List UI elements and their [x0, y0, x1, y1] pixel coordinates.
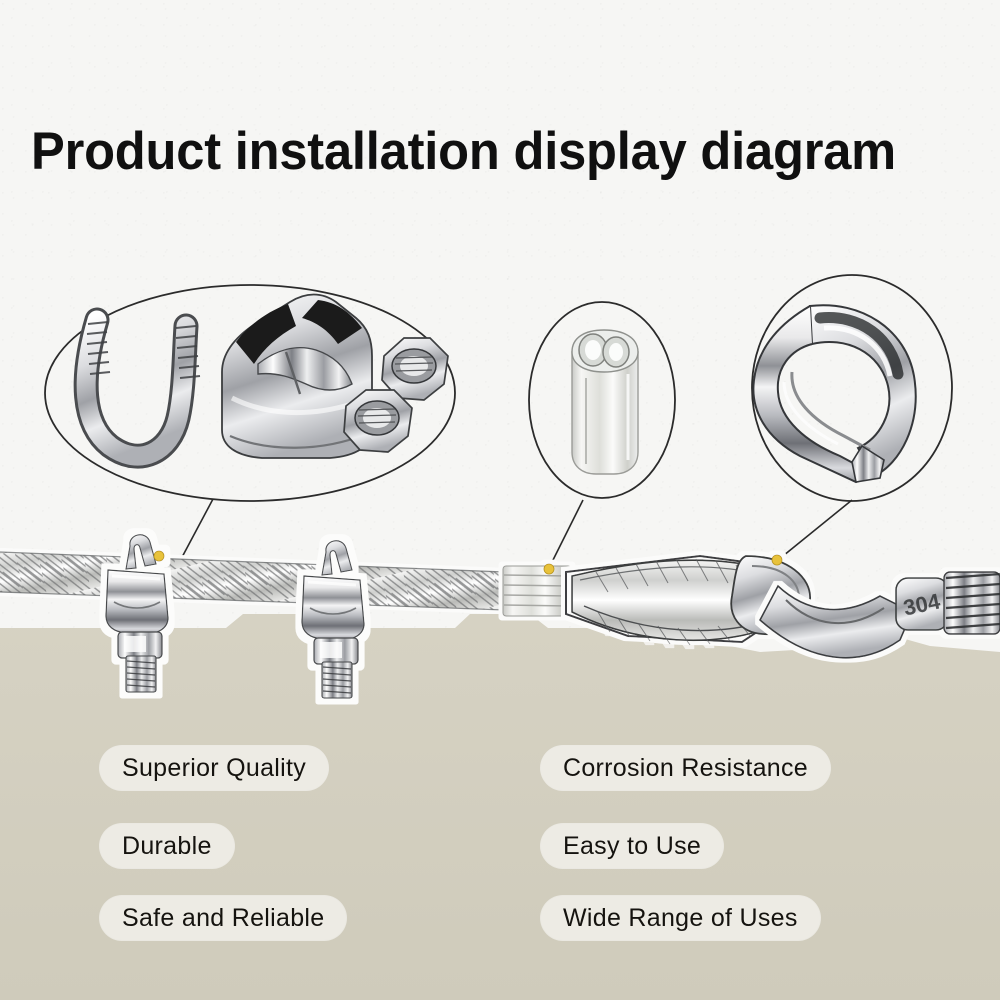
feature-pill-easy-to-use: Easy to Use [541, 824, 723, 868]
feature-pill-superior-quality: Superior Quality [100, 746, 328, 790]
page-title: Product installation display diagram [31, 121, 896, 183]
feature-pill-wide-range-of-uses: Wide Range of Uses [541, 896, 820, 940]
feature-pill-corrosion-resistance: Corrosion Resistance [541, 746, 830, 790]
feature-pill-durable: Durable [100, 824, 234, 868]
feature-pill-safe-and-reliable: Safe and Reliable [100, 896, 346, 940]
product-infographic: 304 [0, 0, 1000, 1000]
